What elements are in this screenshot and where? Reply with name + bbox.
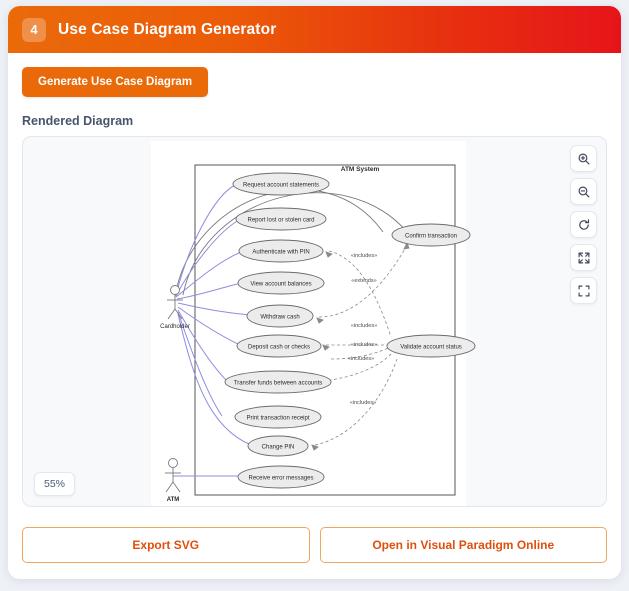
use-case-confirm-transaction: Confirm transaction	[392, 224, 470, 246]
use-case-generator-panel: 4 Use Case Diagram Generator Generate Us…	[8, 6, 621, 579]
diagram-sheet	[151, 141, 466, 506]
svg-text:Change PIN: Change PIN	[262, 445, 295, 451]
step-number-badge: 4	[22, 18, 46, 42]
system-boundary-label: ATM System	[341, 166, 380, 173]
svg-text:Print transaction receipt: Print transaction receipt	[246, 416, 309, 422]
zoom-controls	[570, 145, 597, 304]
zoom-out-icon[interactable]	[570, 178, 597, 205]
svg-text:Confirm transaction: Confirm transaction	[405, 234, 457, 240]
use-case-change-pin: Change PIN	[248, 436, 308, 456]
use-case-deposit-cash-or-checks: Deposit cash or checks	[237, 335, 321, 357]
use-case-withdraw-cash: Withdraw cash	[247, 305, 313, 327]
use-case-validate-account-status: Validate account status	[387, 335, 475, 357]
svg-text:Receive error messages: Receive error messages	[248, 476, 313, 482]
footer-actions: Export SVG Open in Visual Paradigm Onlin…	[8, 513, 621, 579]
use-case-print-transaction-receipt: Print transaction receipt	[235, 406, 321, 428]
use-case-view-account-balances: View account balances	[238, 272, 324, 294]
svg-text:Deposit cash or checks: Deposit cash or checks	[248, 345, 310, 351]
actor-label-atm: ATM	[167, 497, 180, 503]
svg-text:Transfer funds between account: Transfer funds between accounts	[234, 381, 323, 387]
svg-text:Authenticate with PIN: Authenticate with PIN	[252, 250, 309, 256]
zoom-in-icon[interactable]	[570, 145, 597, 172]
svg-text:«includes»: «includes»	[348, 356, 374, 362]
svg-text:«extends»: «extends»	[351, 278, 376, 284]
use-case-transfer-funds-between-accounts: Transfer funds between accounts	[225, 371, 331, 393]
zoom-level-badge: 55%	[34, 472, 75, 496]
svg-text:Request account statements: Request account statements	[243, 183, 319, 189]
generate-use-case-diagram-button[interactable]: Generate Use Case Diagram	[22, 67, 208, 97]
svg-text:View account balances: View account balances	[250, 282, 311, 288]
use-case-diagram-svg: ATM System	[23, 137, 607, 507]
svg-text:«includes»: «includes»	[351, 323, 377, 329]
svg-text:Withdraw cash: Withdraw cash	[260, 315, 299, 321]
page-title: Use Case Diagram Generator	[58, 21, 276, 39]
rendered-diagram-label: Rendered Diagram	[22, 114, 607, 128]
svg-text:Report lost or stolen card: Report lost or stolen card	[247, 218, 314, 224]
reset-icon[interactable]	[570, 211, 597, 238]
svg-text:«includes»: «includes»	[351, 342, 377, 348]
expand-icon[interactable]	[570, 244, 597, 271]
fit-icon[interactable]	[570, 277, 597, 304]
open-in-visual-paradigm-button[interactable]: Open in Visual Paradigm Online	[320, 527, 608, 563]
diagram-viewport[interactable]: ATM System	[22, 136, 607, 507]
svg-text:Validate account status: Validate account status	[400, 345, 462, 351]
svg-text:«includes»: «includes»	[351, 253, 377, 259]
panel-header: 4 Use Case Diagram Generator	[8, 6, 621, 53]
svg-text:«includes»: «includes»	[350, 400, 376, 406]
use-case-report-lost-or-stolen-card: Report lost or stolen card	[236, 208, 326, 230]
use-case-request-account-statements: Request account statements	[233, 173, 329, 195]
actor-label-cardholder: Cardholder	[160, 324, 190, 330]
use-case-authenticate-with-pin: Authenticate with PIN	[239, 240, 323, 262]
diagram-canvas[interactable]: ATM System	[23, 137, 606, 506]
panel-body: Generate Use Case Diagram Rendered Diagr…	[8, 53, 621, 513]
use-case-receive-error-messages: Receive error messages	[238, 466, 324, 488]
export-svg-button[interactable]: Export SVG	[22, 527, 310, 563]
